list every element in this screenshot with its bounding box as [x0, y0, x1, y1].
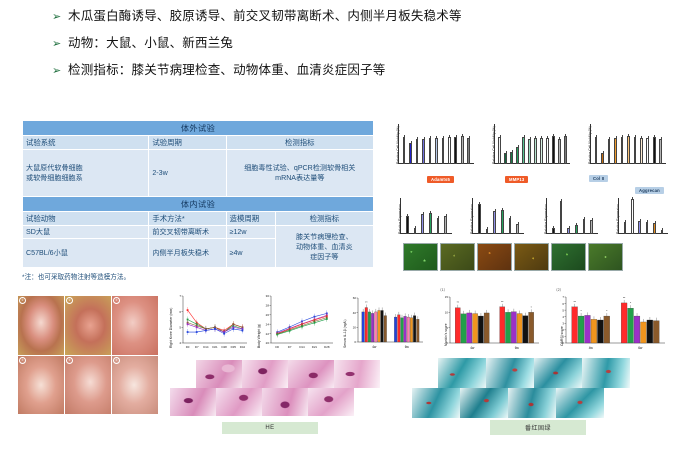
svg-text:1: 1: [562, 335, 564, 339]
bar: [444, 216, 447, 234]
svg-text:0: 0: [354, 340, 356, 344]
svg-text:D21: D21: [312, 345, 318, 349]
bar: [627, 136, 630, 164]
bar: [522, 137, 525, 164]
col-header-model-period: 造模周期: [226, 212, 275, 226]
micrograph: [551, 243, 586, 271]
cell-invitro-period: 2-3w: [149, 150, 226, 197]
chart-body-weight: Body Weight (g) 202224262830D0D7D14D21D2…: [258, 292, 336, 354]
bar: [634, 137, 637, 164]
svg-text:6w: 6w: [405, 345, 410, 349]
bar: [534, 138, 537, 164]
bar-series: [547, 198, 598, 234]
bar: [498, 137, 501, 164]
svg-text:22: 22: [266, 332, 270, 336]
histology-image: [460, 388, 508, 418]
histology-image: [196, 360, 242, 388]
svg-text:15: 15: [445, 295, 449, 299]
table-row: 体内试验: [23, 197, 374, 212]
bar: [509, 218, 512, 235]
col-header-system: 试验系统: [23, 136, 149, 150]
svg-text:3: 3: [562, 321, 564, 325]
bar: [552, 228, 555, 234]
cell-method-dmm: 内侧半月板失稳术: [149, 239, 226, 268]
grouped-bar-svg: 051015**4w***6w: [436, 291, 542, 355]
svg-text:7: 7: [562, 295, 564, 299]
micrograph: [588, 243, 623, 271]
svg-text:D35: D35: [231, 345, 237, 349]
micrograph: [440, 243, 475, 271]
svg-text:D0: D0: [186, 345, 190, 349]
bar: [614, 138, 617, 164]
svg-text:**: **: [365, 301, 368, 305]
svg-text:40: 40: [353, 311, 357, 315]
bar: [429, 138, 432, 164]
bar-series: [619, 198, 668, 234]
table-row: 体外试验: [23, 121, 374, 136]
chart-expression-4: Relative Expression: [618, 198, 668, 234]
experiment-table-wrapper: 体外试验 试验系统 试验周期 检测指标 大鼠原代软骨细胞 或软骨细胞细胞系 2-…: [22, 120, 374, 281]
list-item: ➢ 检测指标：膝关节病理检查、动物体重、血清炎症因子等: [52, 62, 652, 79]
col-header-method: 手术方法*: [149, 212, 226, 226]
bar: [448, 137, 451, 164]
bar: [661, 230, 664, 234]
bar: [528, 139, 531, 164]
gene-chip-mmp13: MMP13: [505, 176, 528, 183]
bar: [504, 153, 507, 164]
bar-series: [401, 198, 452, 234]
he-histology-group: HE: [170, 360, 380, 416]
svg-text:0: 0: [562, 341, 564, 345]
safranin-row-bottom: [412, 388, 630, 418]
bar-series: [591, 124, 666, 164]
bar: [653, 223, 656, 234]
chart-serum-il1b: Serum IL-1β (ng/L) 0204060**4w6w: [344, 292, 426, 354]
surgery-photo: ①: [18, 296, 64, 355]
svg-text:6: 6: [562, 302, 564, 306]
col-header-readouts: 检测指标: [226, 136, 373, 150]
bullet-arrow-icon: ➢: [52, 8, 68, 25]
svg-text:4: 4: [179, 341, 181, 345]
histology-image: [412, 388, 460, 418]
svg-text:6w: 6w: [638, 346, 643, 350]
cell-animal-sd: SD大鼠: [23, 226, 149, 239]
list-item: ➢ 动物：大鼠、小鼠、新西兰兔: [52, 35, 652, 52]
col-header-animal: 试验动物: [23, 212, 149, 226]
bar: [624, 222, 627, 234]
fluorescence-image-row: [403, 243, 623, 271]
bar: [564, 136, 567, 164]
chart-expression-3: Relative Expression: [546, 198, 598, 234]
photo-index-label: ④: [19, 357, 26, 364]
bar: [516, 147, 519, 164]
svg-text:30: 30: [266, 294, 270, 298]
gene-chip-aggrecan: Aggrecan: [635, 187, 664, 194]
chart-expression-1: Relative Expression: [400, 198, 452, 234]
bar: [442, 138, 445, 164]
list-item: ➢ 木瓜蛋白酶诱导、胶原诱导、前交叉韧带离断术、内侧半月板失稳术等: [52, 8, 652, 25]
cell-invitro-system: 大鼠原代软骨细胞 或软骨细胞细胞系: [23, 150, 149, 197]
bar: [493, 211, 496, 234]
bar: [467, 138, 470, 164]
bar: [590, 220, 593, 234]
cell-method-acl: 前交叉韧带离断术: [149, 226, 226, 239]
bar: [567, 228, 570, 234]
bar-series: [473, 198, 524, 234]
bar: [454, 137, 457, 164]
photo-index-label: ⑤: [66, 357, 73, 364]
cell-invivo-readouts: 膝关节病理检查、 动物体重、血清炎 症因子等: [275, 226, 373, 268]
micrograph: [477, 243, 512, 271]
histology-image: [508, 388, 556, 418]
svg-text:5: 5: [179, 326, 181, 330]
histology-image: [334, 360, 380, 388]
section-header-invivo: 体内试验: [23, 197, 374, 212]
experiment-table: 体外试验 试验系统 试验周期 检测指标 大鼠原代软骨细胞 或软骨细胞细胞系 2-…: [22, 120, 374, 268]
table-row: 试验动物 手术方法* 造模周期 检测指标: [23, 212, 374, 226]
grouped-bar-svg: 01234567****4w***6w: [552, 291, 668, 355]
svg-text:7: 7: [179, 294, 181, 298]
chart-viability-adamts5: Relative Cell Viability (%): [398, 124, 474, 164]
stain-label-he: HE: [222, 422, 318, 434]
svg-text:*: *: [581, 309, 583, 313]
bullet-list: ➢ 木瓜蛋白酶诱导、胶原诱导、前交叉韧带离断术、内侧半月板失稳术等 ➢ 动物：大…: [52, 8, 652, 89]
bar-series: [495, 124, 570, 164]
svg-text:20: 20: [353, 326, 357, 330]
bar: [646, 138, 649, 164]
svg-text:6w: 6w: [515, 346, 520, 350]
svg-text:*: *: [630, 301, 632, 305]
svg-text:5: 5: [562, 308, 564, 312]
bar: [516, 224, 519, 234]
cell-invitro-readouts: 细胞毒性试验、qPCR检测软骨相关 mRNA表达量等: [226, 150, 373, 197]
bar: [621, 137, 624, 164]
svg-text:D7: D7: [195, 345, 199, 349]
y-axis-label: Serum IL-1β (ng/L): [343, 319, 347, 348]
surgery-photo: ③: [112, 296, 158, 355]
chart-knee-diameter: Right Knee Diameter (mm) 4567D0D7D14D21D…: [170, 292, 250, 354]
photo-index-label: ⑥: [113, 357, 120, 364]
bar: [510, 152, 513, 164]
svg-text:D14: D14: [203, 345, 209, 349]
histology-image: [170, 388, 216, 416]
safranin-row-top: [438, 358, 630, 388]
bar: [540, 138, 543, 164]
svg-text:6: 6: [179, 310, 181, 314]
bar: [583, 219, 586, 234]
cell-period-4w: ≥4w: [226, 239, 275, 268]
bar: [653, 137, 656, 164]
bullet-text: 检测指标：膝关节病理检查、动物体重、血清炎症因子等: [68, 62, 386, 79]
histology-image: [438, 358, 486, 388]
bar: [501, 210, 504, 234]
svg-text:60: 60: [353, 296, 357, 300]
bar: [601, 153, 604, 164]
safranin-histology-group: 番红固绿: [412, 358, 630, 418]
bar: [560, 201, 563, 234]
svg-text:*: *: [606, 309, 608, 313]
chart-viability-colii: Relative Cell Viability (%): [590, 124, 666, 164]
svg-text:26: 26: [266, 313, 270, 317]
bar: [595, 137, 598, 164]
bar-series: [399, 124, 474, 164]
chart-mankin-score: （1） Mankin's score 051015**4w***6w: [436, 288, 542, 354]
y-axis-label: Body Weight (g): [257, 324, 261, 348]
he-row-bottom: [170, 388, 380, 416]
svg-text:4: 4: [562, 315, 564, 319]
bullet-text: 木瓜蛋白酶诱导、胶原诱导、前交叉韧带离断术、内侧半月板失稳术等: [68, 8, 462, 25]
svg-text:**: **: [501, 300, 504, 304]
svg-text:4w: 4w: [372, 345, 377, 349]
bar: [558, 139, 561, 164]
svg-text:20: 20: [266, 341, 270, 345]
histology-image: [582, 358, 630, 388]
cell-period-12w: ≥12w: [226, 226, 275, 239]
bar: [403, 137, 406, 164]
chart-viability-mmp13: Relative Cell Viability (%): [494, 124, 570, 164]
bullet-arrow-icon: ➢: [52, 62, 68, 79]
surgery-photo: ④: [18, 356, 64, 415]
line-plot-svg: 4567D0D7D14D21D28D35D42: [170, 292, 250, 354]
bar: [659, 139, 662, 164]
svg-text:24: 24: [266, 322, 270, 326]
micrograph: [514, 243, 549, 271]
chart-oarsi-score: （2） OARSI score 01234567****4w***6w: [552, 288, 668, 354]
col-header-period: 试验周期: [149, 136, 226, 150]
bar: [435, 138, 438, 164]
svg-text:D14: D14: [299, 345, 305, 349]
surgery-photo: ②: [65, 296, 111, 355]
bar: [638, 221, 641, 234]
bar: [414, 228, 417, 234]
table-row: SD大鼠 前交叉韧带离断术 ≥12w 膝关节病理检查、 动物体重、血清炎 症因子…: [23, 226, 374, 239]
surgery-photo-grid: ① ② ③ ④ ⑤ ⑥: [18, 296, 158, 414]
section-header-invitro: 体外试验: [23, 121, 374, 136]
bar: [478, 204, 481, 234]
histology-image: [242, 360, 288, 388]
bar: [406, 216, 409, 234]
bullet-text: 动物：大鼠、小鼠、新西兰兔: [68, 35, 233, 52]
photo-index-label: ①: [19, 297, 26, 304]
bar: [608, 139, 611, 164]
bar: [422, 139, 425, 164]
line-plot-svg: 202224262830D0D7D14D21D28: [258, 292, 336, 354]
bar: [409, 143, 412, 164]
expression-panel-group: Relative Expression Relative Expression …: [388, 196, 674, 240]
svg-text:4w: 4w: [589, 346, 594, 350]
he-row-top: [196, 360, 380, 388]
grouped-bar-svg: 0204060**4w6w: [344, 292, 426, 354]
svg-text:**: **: [623, 296, 626, 300]
bar: [461, 136, 464, 164]
bar: [646, 222, 649, 234]
bar: [552, 136, 555, 164]
svg-text:D7: D7: [288, 345, 292, 349]
cell-animal-c57: C57BL/6小鼠: [23, 239, 149, 268]
surgery-photo: ⑤: [65, 356, 111, 415]
bar: [546, 138, 549, 164]
photo-index-label: ③: [113, 297, 120, 304]
bar: [575, 225, 578, 234]
slide-canvas: ➢ 木瓜蛋白酶诱导、胶原诱导、前交叉韧带离断术、内侧半月板失稳术等 ➢ 动物：大…: [0, 0, 678, 449]
bar: [631, 199, 634, 234]
surgery-photo: ⑥: [112, 356, 158, 415]
gene-chip-adamts5: Adamts5: [427, 176, 454, 183]
chart-expression-2: Relative Expression: [472, 198, 524, 234]
gene-chip-colii: Col II: [589, 175, 608, 182]
histology-image: [262, 388, 308, 416]
histology-image: [288, 360, 334, 388]
table-row: 大鼠原代软骨细胞 或软骨细胞细胞系 2-3w 细胞毒性试验、qPCR检测软骨相关…: [23, 150, 374, 197]
svg-text:5: 5: [446, 326, 448, 330]
photo-index-label: ②: [66, 297, 73, 304]
histology-image: [216, 388, 262, 416]
bar: [486, 229, 489, 234]
bar: [416, 139, 419, 164]
bar: [437, 218, 440, 234]
histology-image: [308, 388, 354, 416]
bar: [640, 138, 643, 164]
histology-image: [486, 358, 534, 388]
table-row: 试验系统 试验周期 检测指标: [23, 136, 374, 150]
svg-text:10: 10: [445, 311, 449, 315]
svg-text:D28: D28: [221, 345, 227, 349]
svg-text:**: **: [573, 300, 576, 304]
svg-text:D21: D21: [212, 345, 218, 349]
micrograph: [403, 243, 438, 271]
svg-text:*: *: [531, 305, 533, 309]
histology-image: [556, 388, 604, 418]
svg-text:D28: D28: [324, 345, 330, 349]
svg-text:D0: D0: [275, 345, 279, 349]
bar: [421, 214, 424, 234]
svg-text:**: **: [457, 301, 460, 305]
bullet-arrow-icon: ➢: [52, 35, 68, 52]
table-footnote: *注：也可采取药物注射等造模方法。: [22, 271, 374, 281]
col-header-invivo-readouts: 检测指标: [275, 212, 373, 226]
y-axis-label: Right Knee Diameter (mm): [169, 308, 173, 348]
stain-label-safranin: 番红固绿: [490, 420, 586, 435]
svg-text:2: 2: [562, 328, 564, 332]
viability-panel-group: Relative Cell Viability (%) Relative Cel…: [388, 122, 674, 170]
svg-text:4w: 4w: [470, 346, 475, 350]
histology-image: [534, 358, 582, 388]
bar: [429, 213, 432, 234]
svg-text:28: 28: [266, 304, 270, 308]
svg-text:0: 0: [446, 341, 448, 345]
svg-text:D42: D42: [240, 345, 246, 349]
